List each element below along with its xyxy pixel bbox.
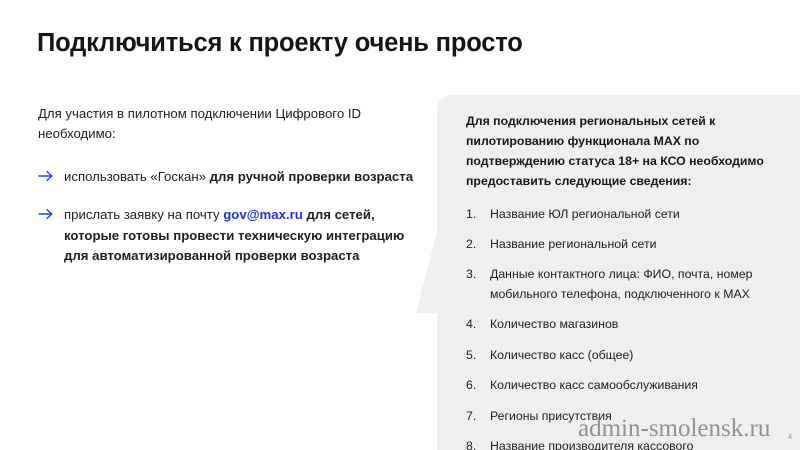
bullet-item-2-text: прислать заявку на почту gov@max.ru для … [64, 205, 418, 266]
bullet-item-1: использовать «Госкан» для ручной проверк… [38, 167, 418, 187]
list-item: Количество магазинов [466, 315, 766, 334]
bullet-2-seg-regular: прислать заявку на почту [64, 207, 223, 222]
panel-content: Для подключения региональных сетей к пил… [466, 112, 784, 450]
bullet-item-1-text: использовать «Госкан» для ручной проверк… [64, 167, 418, 187]
list-item: Данные контактного лица: ФИО, почта, ном… [466, 265, 766, 304]
requirements-list: Название ЮЛ региональной сети Название р… [466, 205, 784, 450]
left-content-column: Для участия в пилотном подключении Цифро… [38, 104, 418, 285]
page-number: 4 [788, 432, 792, 441]
email-link[interactable]: gov@max.ru [223, 207, 303, 222]
requirements-panel: Для подключения региональных сетей к пил… [437, 95, 800, 450]
list-item: Количество касс самообслуживания [466, 376, 766, 395]
slide-canvas: Подключиться к проекту очень просто Для … [0, 0, 800, 450]
panel-pointer-tail [416, 228, 438, 313]
lead-paragraph: Для участия в пилотном подключении Цифро… [38, 104, 398, 145]
bullet-1-seg-regular: использовать «Госкан» [64, 169, 210, 184]
page-title: Подключиться к проекту очень просто [37, 28, 737, 59]
arrow-right-icon [38, 205, 64, 221]
list-item: Количество касс (общее) [466, 346, 766, 365]
list-item: Название ЮЛ региональной сети [466, 205, 766, 224]
list-item: Название региональной сети [466, 235, 766, 254]
arrow-right-icon [38, 167, 64, 183]
watermark: admin-smolensk.ru [578, 415, 770, 443]
panel-heading: Для подключения региональных сетей к пил… [466, 112, 766, 192]
bullet-1-seg-bold: для ручной проверки возраста [210, 169, 413, 184]
bullet-item-2: прислать заявку на почту gov@max.ru для … [38, 205, 418, 266]
